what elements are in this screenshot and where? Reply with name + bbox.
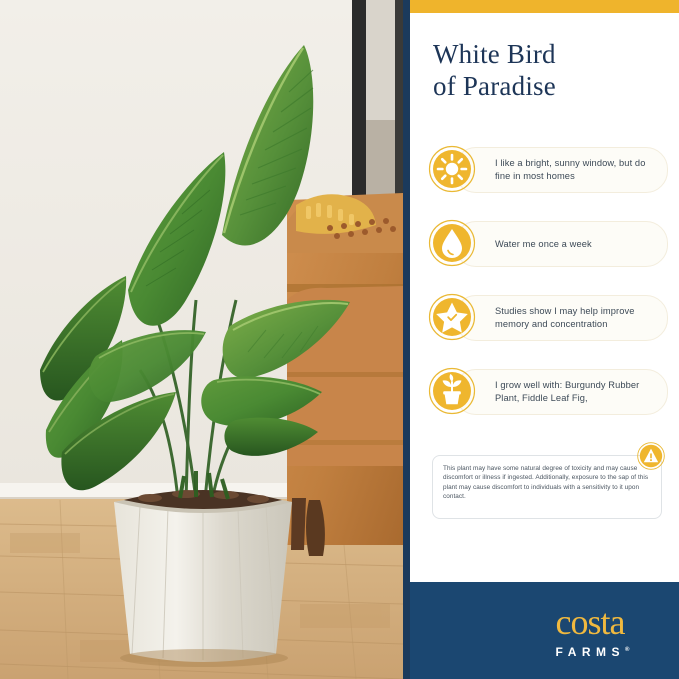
potted-plant-icon [428,367,476,415]
care-item-water-label: Water me once a week [495,238,592,251]
care-item-light-body: I like a bright, sunny window, but do fi… [454,147,668,193]
care-item-benefit-label: Studies show I may help improve memory a… [495,305,655,331]
logo-wordmark-primary: costa [520,604,660,640]
trademark-symbol: ® [625,647,629,653]
care-instructions-list: I like a bright, sunny window, but do fi… [428,145,668,441]
sun-icon [428,145,476,193]
care-item-companions-label: I grow well with: Burgundy Rubber Plant,… [495,379,655,405]
care-item-companions: I grow well with: Burgundy Rubber Plant,… [428,367,668,415]
care-item-benefit: Studies show I may help improve memory a… [428,293,668,341]
brand-footer: costa FARMS® [410,582,679,679]
logo-farms-text: FARMS [556,645,626,659]
page-title: White Bird of Paradise [433,38,668,102]
plant-photo [0,0,403,679]
water-drop-icon [428,219,476,267]
care-item-water-body: Water me once a week [454,221,668,267]
accent-top-bar [410,0,679,13]
title-line-1: White Bird [433,38,668,70]
info-panel: White Bird of Paradise I like a bright, … [410,0,679,679]
care-item-water: Water me once a week [428,219,668,267]
toxicity-warning-box: This plant may have some natural degree … [432,455,662,519]
title-line-2: of Paradise [433,70,668,102]
star-check-icon [428,293,476,341]
panel-divider [403,0,410,679]
toxicity-warning-text: This plant may have some natural degree … [443,464,651,502]
costa-farms-logo: costa FARMS® [520,604,660,660]
care-item-benefit-body: Studies show I may help improve memory a… [454,295,668,341]
care-item-companions-body: I grow well with: Burgundy Rubber Plant,… [454,369,668,415]
warning-triangle-icon [637,442,665,470]
product-info-card: White Bird of Paradise I like a bright, … [0,0,679,679]
product-photo [0,0,403,679]
care-item-light: I like a bright, sunny window, but do fi… [428,145,668,193]
logo-wordmark-secondary: FARMS® [520,642,660,660]
care-item-light-label: I like a bright, sunny window, but do fi… [495,157,655,183]
